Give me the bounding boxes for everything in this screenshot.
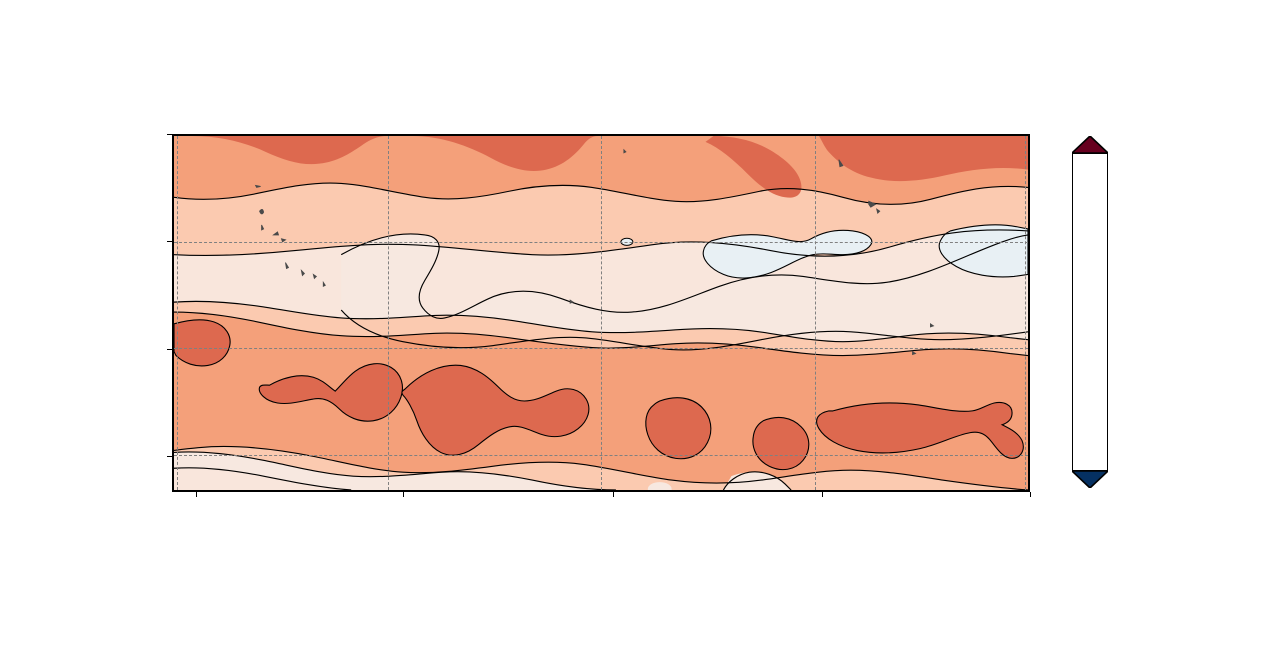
anomaly-contour-field <box>174 136 1028 490</box>
xtick-mark-170E <box>196 492 197 497</box>
colorbar-under-arrow <box>1072 471 1108 488</box>
ytick-mark-10S <box>167 456 172 457</box>
ytick-mark-5S <box>167 349 172 350</box>
colorbar-bands <box>1072 153 1108 471</box>
colorbar-over-arrow <box>1072 136 1108 153</box>
ytick-mark-5N <box>167 134 172 135</box>
xtick-mark-160W <box>822 492 823 497</box>
sea-level-anomaly-map-page <box>0 0 1262 667</box>
xtick-mark-150W <box>1030 492 1031 497</box>
xtick-mark-180 <box>403 492 404 497</box>
ytick-mark-0 <box>167 241 172 242</box>
colorbar <box>1072 136 1108 488</box>
xtick-mark-170W <box>613 492 614 497</box>
map-plot-area <box>172 134 1030 492</box>
